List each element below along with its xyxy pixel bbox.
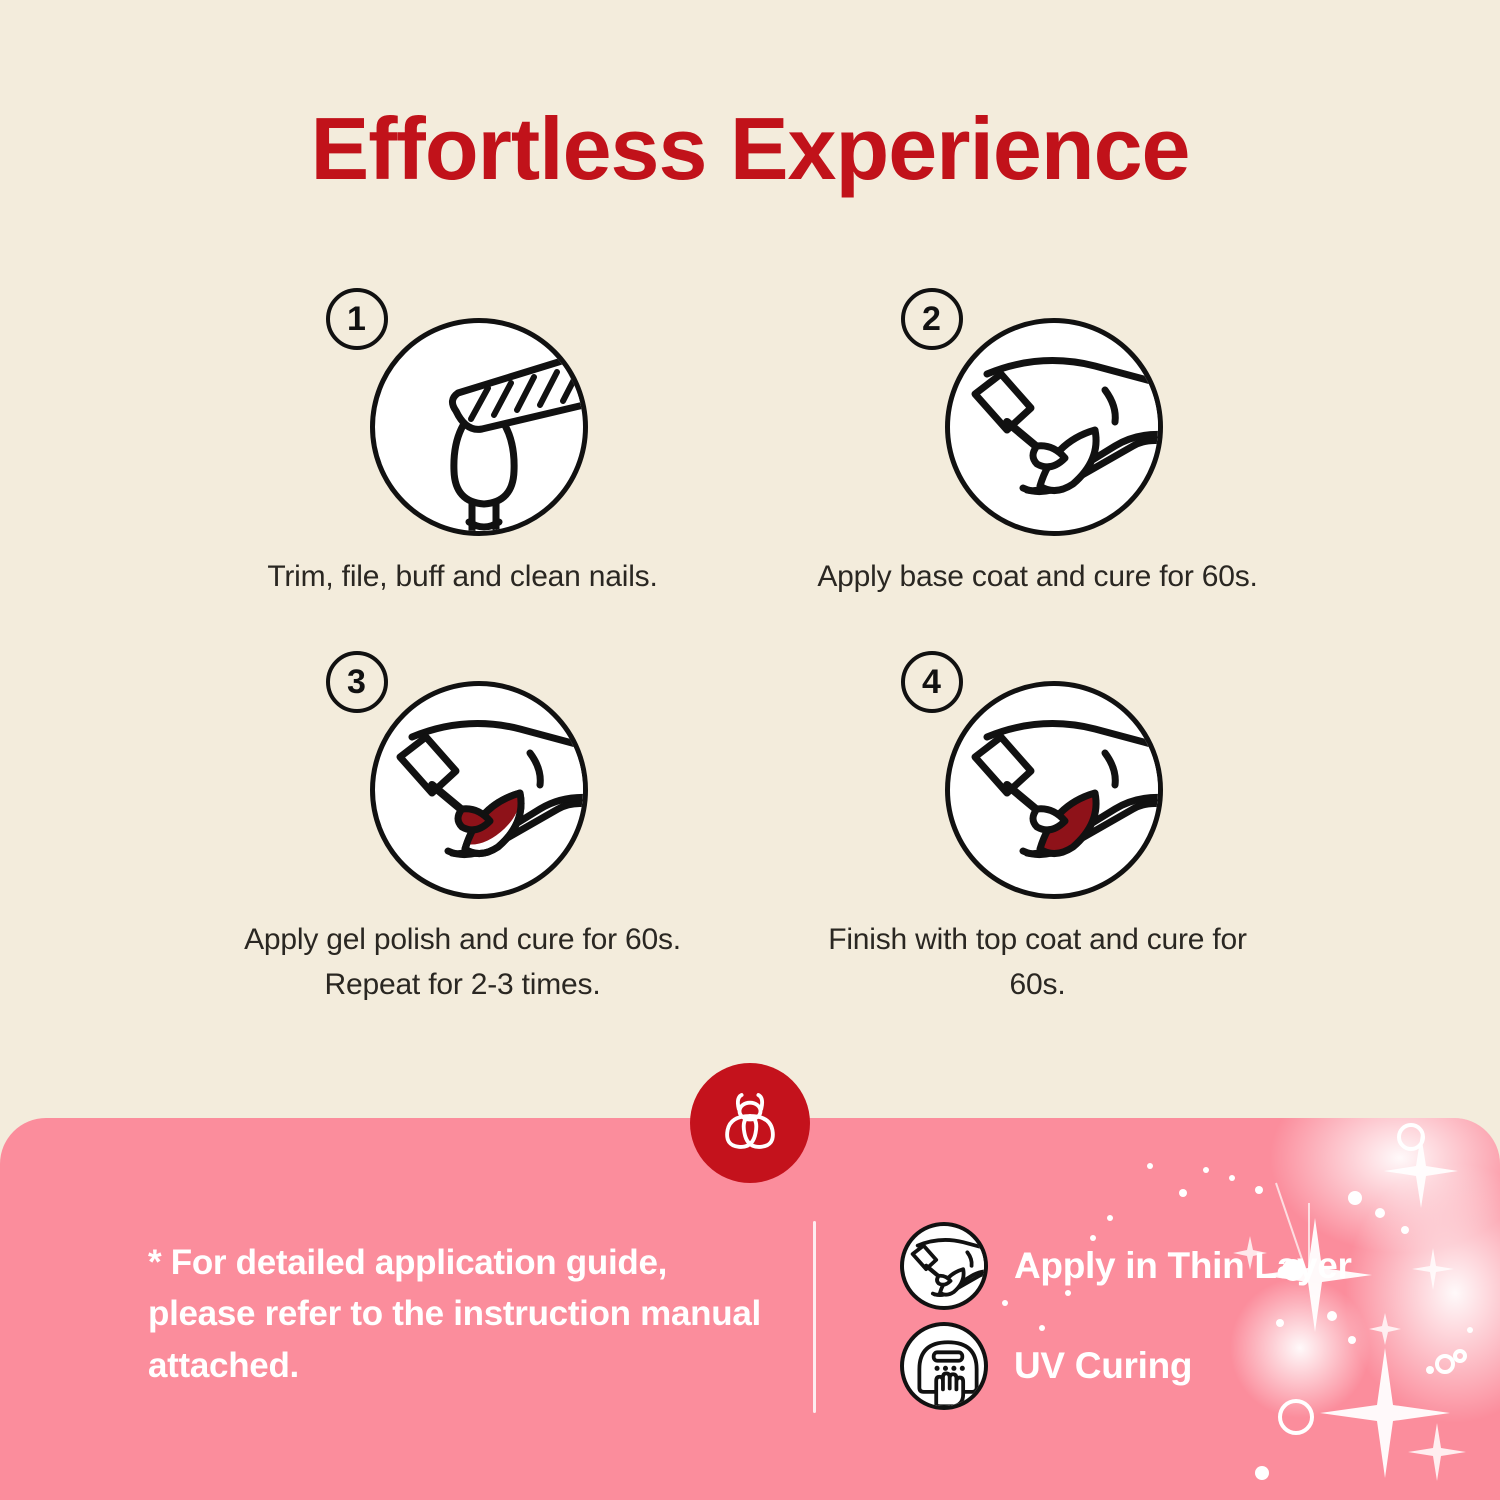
step-4-caption: Finish with top coat and cure for 60s. bbox=[803, 918, 1273, 1007]
nail-file-icon bbox=[370, 318, 588, 536]
uv-lamp-icon bbox=[900, 1322, 988, 1410]
step-1-illustration: 1 bbox=[318, 288, 608, 538]
brush-top-coat-icon bbox=[945, 681, 1163, 899]
step-3-illustration: 3 bbox=[318, 651, 608, 901]
step-1-badge: 1 bbox=[326, 288, 388, 350]
step-3-caption: Apply gel polish and cure for 60s. Repea… bbox=[228, 918, 698, 1007]
feature-label-uv-curing: UV Curing bbox=[1014, 1345, 1192, 1387]
feature-uv-curing: UV Curing bbox=[900, 1322, 1352, 1410]
step-4-badge: 4 bbox=[901, 651, 963, 713]
step-2-caption: Apply base coat and cure for 60s. bbox=[803, 555, 1273, 599]
step-2: 2 Apply base coat and cure for 60s. bbox=[750, 288, 1325, 599]
step-3: 3 Apply gel polish and cure for 60s. Rep… bbox=[175, 651, 750, 1007]
product-infographic: Effortless Experience bbox=[0, 0, 1500, 1500]
bee-logo-icon bbox=[690, 1063, 810, 1183]
step-4: 4 Finish with top coat and cure for 60s. bbox=[750, 651, 1325, 1007]
brush-gel-polish-icon bbox=[370, 681, 588, 899]
brush-thin-layer-icon bbox=[900, 1222, 988, 1310]
steps-grid: 1 Trim, file, buff and clean nails. bbox=[175, 288, 1325, 1007]
step-1: 1 Trim, file, buff and clean nails. bbox=[175, 288, 750, 599]
footer-note: * For detailed application guide, please… bbox=[148, 1237, 768, 1391]
step-4-illustration: 4 bbox=[893, 651, 1183, 901]
step-2-badge: 2 bbox=[901, 288, 963, 350]
step-3-badge: 3 bbox=[326, 651, 388, 713]
footer-divider bbox=[813, 1221, 816, 1413]
feature-apply-in-thin-layer: Apply in Thin Layer bbox=[900, 1222, 1352, 1310]
brush-base-coat-icon bbox=[945, 318, 1163, 536]
step-1-caption: Trim, file, buff and clean nails. bbox=[228, 555, 698, 599]
footer-features: Apply in Thin Layer bbox=[900, 1222, 1352, 1410]
page-title: Effortless Experience bbox=[0, 103, 1500, 195]
step-2-illustration: 2 bbox=[893, 288, 1183, 538]
feature-label-thin-layer: Apply in Thin Layer bbox=[1014, 1245, 1352, 1287]
